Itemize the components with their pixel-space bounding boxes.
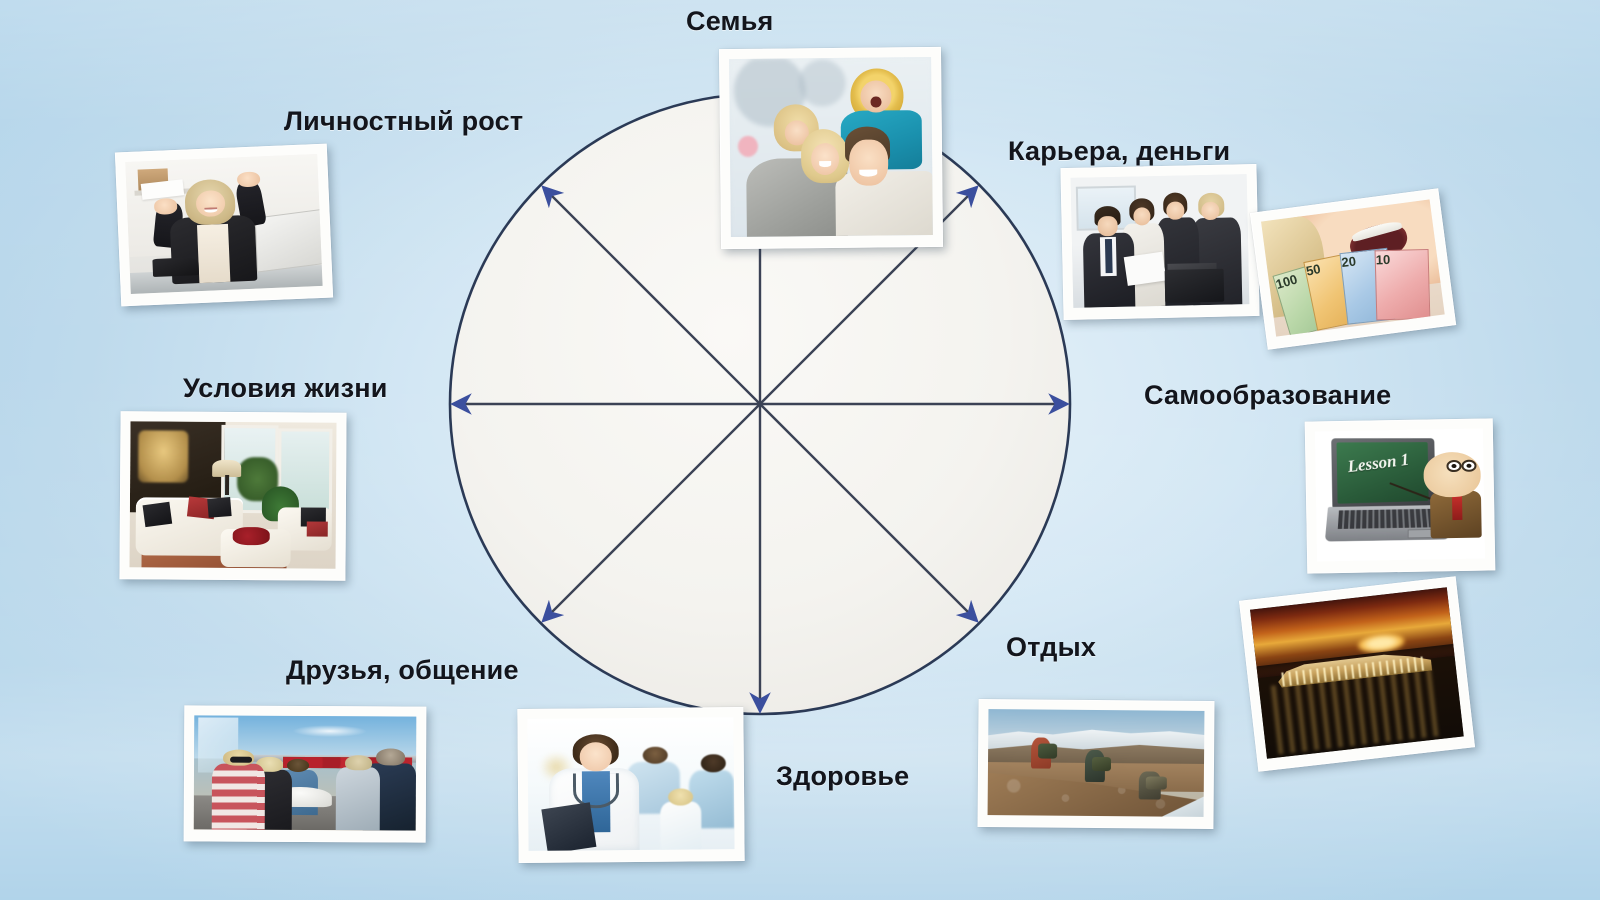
photo-money-image: 100 50 20 10 [1261,199,1445,336]
photo-health [517,707,744,863]
photo-money: 100 50 20 10 [1250,188,1456,350]
photo-career-image [1071,174,1250,308]
wheel-of-life-slide: Семья Личностный рост Карьера, деньги Ус… [0,0,1600,900]
photo-health-image [527,717,734,851]
label-career-money: Карьера, деньги [1008,136,1230,167]
photo-cruise [1239,576,1475,772]
photo-living-conditions [119,411,346,581]
label-leisure: Отдых [1006,632,1096,663]
euro-note-20-label: 20 [1341,253,1357,270]
photo-self-education-image: Lesson 1 [1315,429,1485,562]
label-self-education: Самообразование [1144,380,1391,411]
euro-note-100-label: 100 [1273,272,1298,293]
photo-self-education: Lesson 1 [1305,418,1496,573]
photo-friends-image [194,715,417,830]
photo-hiking-image [988,709,1205,817]
photo-cruise-image [1250,587,1464,758]
label-personal-growth: Личностный рост [284,106,523,137]
photo-living-conditions-image [129,421,336,568]
photo-personal-growth [115,144,333,307]
photo-personal-growth-image [125,154,322,294]
label-living-conditions: Условия жизни [183,373,388,404]
euro-note-50-label: 50 [1305,261,1322,279]
label-friends: Друзья, общение [286,655,519,686]
photo-family [719,47,943,249]
label-health: Здоровье [776,761,909,792]
photo-family-image [729,57,933,237]
label-family: Семья [686,6,773,37]
euro-note-10-label: 10 [1376,252,1391,267]
photo-career [1060,164,1259,320]
photo-friends [184,705,427,842]
photo-hiking [977,699,1214,829]
